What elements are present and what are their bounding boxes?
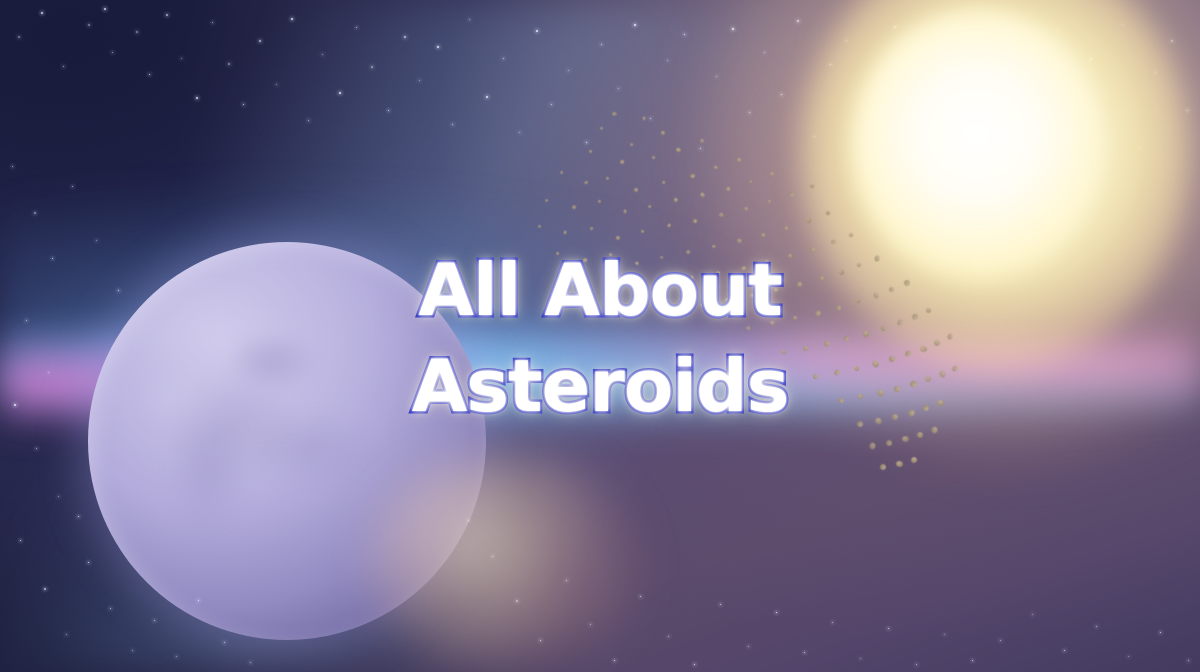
asteroid bbox=[556, 252, 559, 255]
star bbox=[551, 104, 552, 105]
star bbox=[41, 12, 43, 14]
star bbox=[26, 320, 27, 321]
star bbox=[972, 660, 973, 661]
star bbox=[1096, 626, 1097, 627]
star bbox=[132, 650, 133, 651]
asteroid bbox=[745, 325, 751, 331]
star bbox=[1128, 656, 1129, 657]
star bbox=[243, 104, 244, 105]
star bbox=[224, 642, 225, 643]
star bbox=[419, 80, 420, 81]
star bbox=[322, 54, 323, 55]
star bbox=[34, 212, 36, 214]
asteroid bbox=[879, 463, 887, 471]
star bbox=[1188, 660, 1189, 661]
asteroid bbox=[563, 230, 567, 235]
asteroid bbox=[599, 126, 603, 130]
star bbox=[154, 620, 155, 621]
asteroid bbox=[612, 112, 617, 116]
asteroid bbox=[642, 116, 645, 120]
title-card-scene: All About Asteroids bbox=[0, 0, 1200, 672]
asteroid bbox=[661, 131, 666, 136]
star bbox=[944, 634, 945, 635]
asteroid bbox=[715, 270, 720, 275]
star bbox=[684, 34, 685, 35]
star bbox=[48, 372, 49, 373]
asteroid bbox=[582, 257, 588, 263]
asteroid bbox=[895, 460, 903, 467]
asteroid bbox=[613, 280, 617, 284]
star bbox=[66, 634, 67, 635]
star bbox=[748, 646, 749, 647]
star bbox=[149, 74, 150, 75]
star bbox=[469, 19, 470, 20]
star bbox=[916, 664, 917, 665]
asteroid bbox=[674, 198, 678, 202]
asteroid bbox=[589, 226, 593, 230]
asteroid bbox=[620, 160, 625, 165]
asteroid bbox=[584, 180, 589, 184]
star bbox=[1000, 640, 1001, 641]
sun-core bbox=[852, 10, 1102, 280]
star bbox=[63, 66, 64, 67]
star bbox=[104, 8, 106, 10]
asteroid bbox=[685, 249, 691, 255]
asteroid bbox=[667, 223, 671, 228]
asteroid bbox=[635, 261, 640, 266]
asteroid bbox=[609, 253, 612, 256]
asteroid bbox=[700, 303, 705, 308]
star bbox=[888, 628, 889, 629]
asteroid bbox=[647, 204, 651, 208]
star bbox=[339, 92, 341, 94]
star bbox=[58, 496, 59, 497]
star bbox=[640, 596, 641, 597]
star bbox=[503, 58, 504, 59]
star bbox=[568, 70, 569, 71]
asteroid bbox=[712, 245, 716, 248]
star bbox=[291, 18, 293, 20]
star bbox=[404, 36, 406, 38]
star bbox=[668, 636, 669, 637]
asteroid bbox=[633, 187, 638, 192]
asteroid bbox=[665, 282, 669, 286]
asteroid bbox=[676, 147, 682, 152]
star bbox=[452, 124, 453, 125]
star bbox=[356, 27, 357, 28]
asteroid bbox=[588, 149, 592, 153]
asteroid bbox=[661, 180, 665, 184]
asteroid bbox=[640, 229, 644, 233]
star bbox=[437, 46, 439, 48]
star bbox=[212, 22, 213, 23]
asteroid bbox=[597, 199, 601, 203]
asteroid bbox=[910, 456, 918, 464]
star bbox=[618, 88, 619, 89]
star bbox=[72, 186, 73, 187]
star bbox=[486, 96, 488, 98]
star bbox=[88, 562, 89, 563]
asteroid bbox=[544, 198, 548, 202]
star bbox=[196, 97, 198, 99]
asteroid bbox=[560, 171, 564, 175]
star bbox=[804, 652, 805, 653]
star bbox=[650, 118, 651, 119]
asteroid bbox=[690, 275, 694, 280]
star bbox=[14, 404, 16, 406]
asteroid bbox=[724, 297, 728, 301]
star bbox=[44, 588, 46, 590]
star bbox=[276, 84, 277, 85]
star bbox=[371, 66, 373, 68]
asteroid bbox=[623, 209, 626, 213]
star bbox=[181, 58, 182, 59]
star bbox=[259, 40, 261, 42]
star bbox=[776, 612, 777, 613]
star bbox=[1032, 614, 1033, 615]
star bbox=[78, 516, 79, 517]
planet-backlight-glow bbox=[368, 452, 638, 672]
star bbox=[1064, 650, 1065, 651]
star bbox=[118, 290, 119, 291]
star bbox=[586, 142, 587, 143]
asteroid bbox=[660, 256, 663, 259]
star bbox=[694, 664, 695, 665]
asteroid bbox=[885, 439, 893, 447]
star bbox=[614, 660, 615, 661]
star bbox=[832, 622, 833, 623]
asteroid bbox=[629, 142, 633, 146]
asteroid bbox=[616, 236, 621, 241]
star bbox=[634, 24, 636, 26]
star bbox=[136, 31, 138, 33]
star bbox=[166, 14, 168, 16]
star bbox=[250, 662, 251, 663]
star bbox=[536, 30, 538, 32]
star bbox=[18, 36, 20, 38]
asteroid bbox=[638, 286, 643, 291]
star bbox=[388, 110, 389, 111]
star bbox=[112, 52, 113, 53]
asteroid bbox=[537, 224, 541, 228]
star bbox=[228, 63, 230, 65]
star bbox=[519, 132, 520, 133]
asteroid bbox=[869, 442, 875, 449]
star bbox=[601, 44, 602, 45]
asteroid bbox=[606, 177, 610, 181]
star bbox=[720, 604, 721, 605]
star bbox=[1160, 632, 1161, 633]
star bbox=[88, 24, 90, 26]
star bbox=[96, 240, 97, 241]
asteroid bbox=[692, 218, 697, 223]
asteroid bbox=[690, 173, 696, 178]
star bbox=[308, 120, 309, 121]
star bbox=[110, 608, 111, 609]
star bbox=[20, 540, 21, 541]
star bbox=[36, 448, 37, 449]
star bbox=[12, 166, 13, 167]
star bbox=[667, 60, 668, 61]
star bbox=[176, 656, 177, 657]
asteroid bbox=[651, 155, 655, 159]
star bbox=[52, 258, 53, 259]
asteroid bbox=[572, 205, 576, 209]
star bbox=[860, 658, 861, 659]
